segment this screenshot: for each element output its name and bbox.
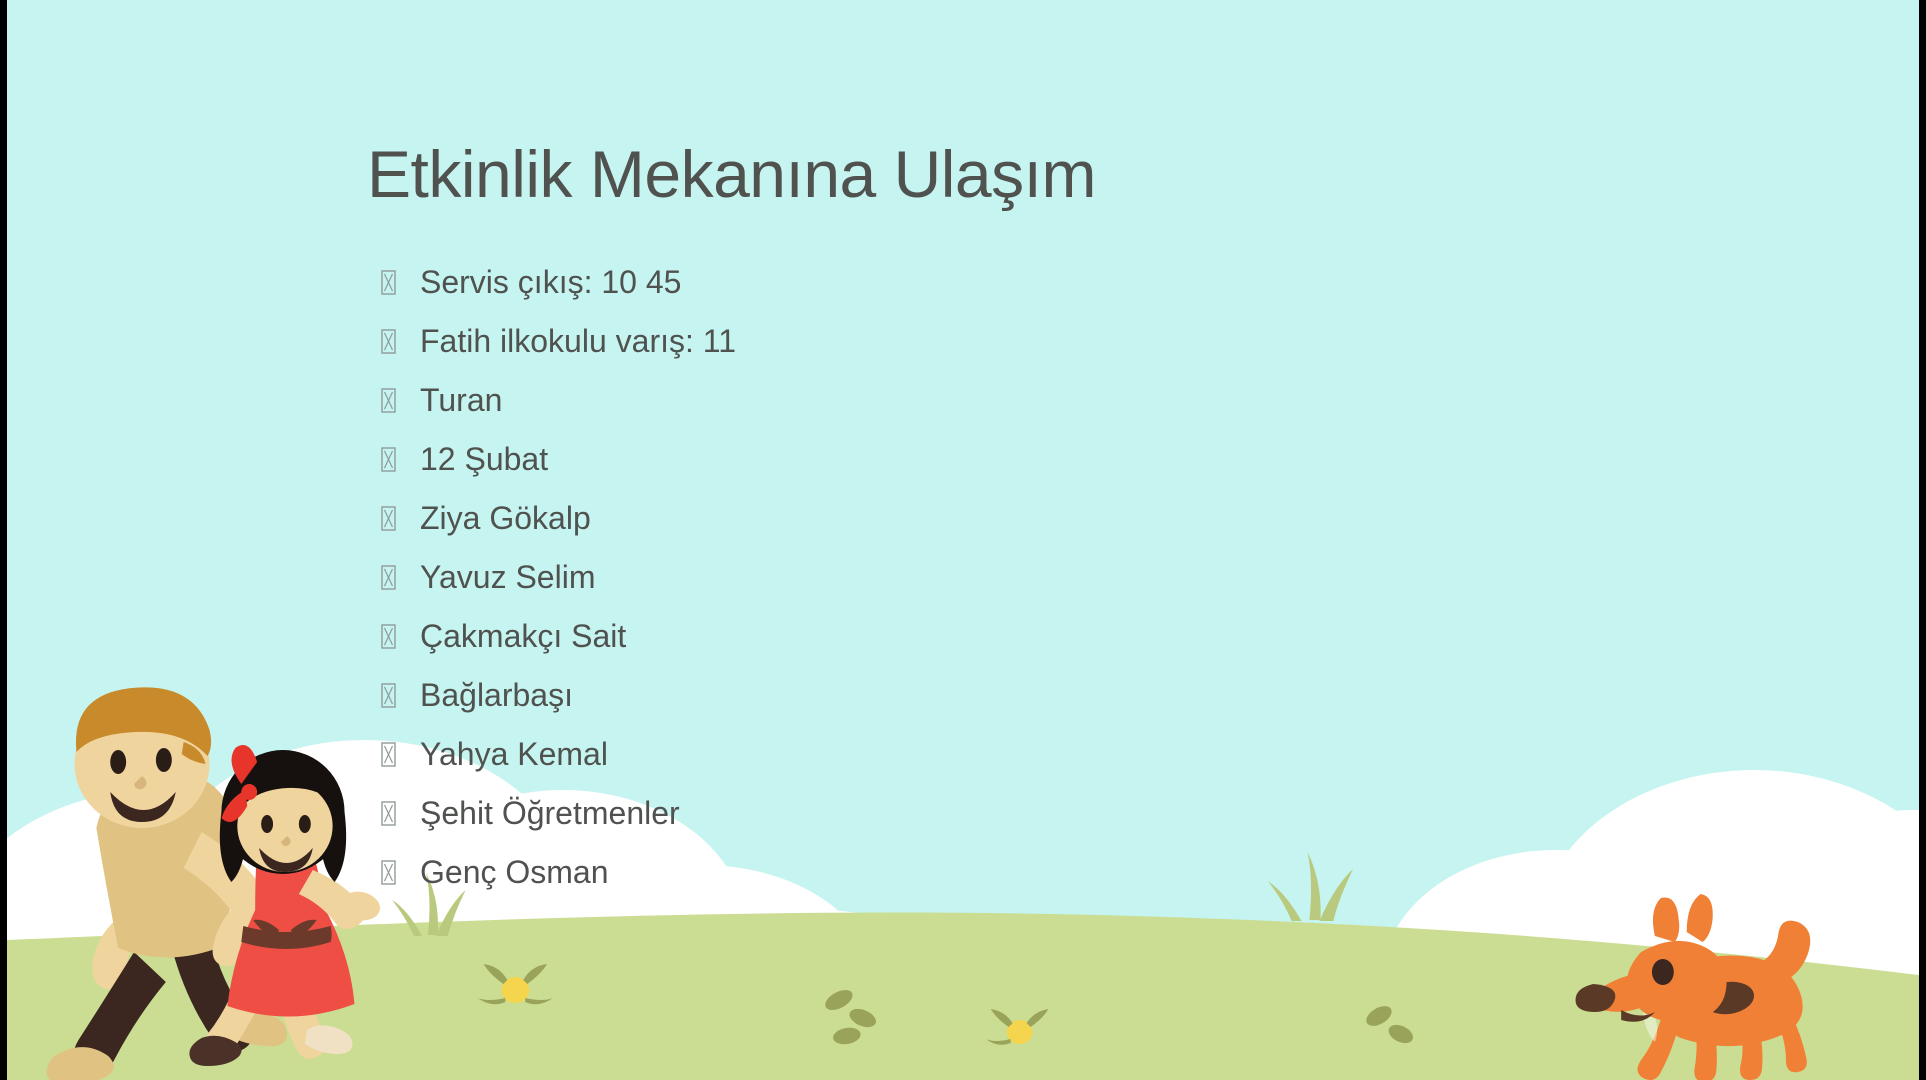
missing-glyph-tofu-icon [381, 801, 396, 826]
list-item-label: 12 Şubat [420, 443, 548, 475]
list-item-label: Servis çıkış: 10 45 [420, 266, 681, 298]
list-item-label: Bağlarbaşı [420, 679, 573, 711]
list-item[interactable]: Şehit Öğretmenler [381, 783, 1281, 842]
list-item[interactable]: Genç Osman [381, 842, 1281, 901]
list-item-label: Genç Osman [420, 856, 609, 888]
bullet-list: Servis çıkış: 10 45 Fatih ilkokulu varış… [381, 252, 1281, 901]
missing-glyph-tofu-icon [381, 860, 396, 885]
missing-glyph-tofu-icon [381, 683, 396, 708]
slide-content: Etkinlik Mekanına Ulaşım Servis çıkış: 1… [7, 0, 1919, 1080]
missing-glyph-tofu-icon [381, 388, 396, 413]
list-item[interactable]: Çakmakçı Sait [381, 606, 1281, 665]
list-item[interactable]: Bağlarbaşı [381, 665, 1281, 724]
list-item[interactable]: Servis çıkış: 10 45 [381, 252, 1281, 311]
list-item[interactable]: Yavuz Selim [381, 547, 1281, 606]
list-item-label: Çakmakçı Sait [420, 620, 626, 652]
list-item-label: Turan [420, 384, 502, 416]
missing-glyph-tofu-icon [381, 329, 396, 354]
missing-glyph-tofu-icon [381, 447, 396, 472]
list-item-label: Ziya Gökalp [420, 502, 591, 534]
slide: Etkinlik Mekanına Ulaşım Servis çıkış: 1… [0, 0, 1926, 1080]
list-item[interactable]: Ziya Gökalp [381, 488, 1281, 547]
page-title: Etkinlik Mekanına Ulaşım [367, 140, 1096, 209]
list-item-label: Yavuz Selim [420, 561, 595, 593]
list-item-label: Yahya Kemal [420, 738, 608, 770]
list-item[interactable]: Fatih ilkokulu varış: 11 [381, 311, 1281, 370]
list-item[interactable]: Yahya Kemal [381, 724, 1281, 783]
missing-glyph-tofu-icon [381, 565, 396, 590]
list-item-label: Fatih ilkokulu varış: 11 [420, 325, 736, 357]
missing-glyph-tofu-icon [381, 742, 396, 767]
missing-glyph-tofu-icon [381, 624, 396, 649]
list-item[interactable]: Turan [381, 370, 1281, 429]
list-item[interactable]: 12 Şubat [381, 429, 1281, 488]
missing-glyph-tofu-icon [381, 270, 396, 295]
list-item-label: Şehit Öğretmenler [420, 797, 680, 829]
missing-glyph-tofu-icon [381, 506, 396, 531]
